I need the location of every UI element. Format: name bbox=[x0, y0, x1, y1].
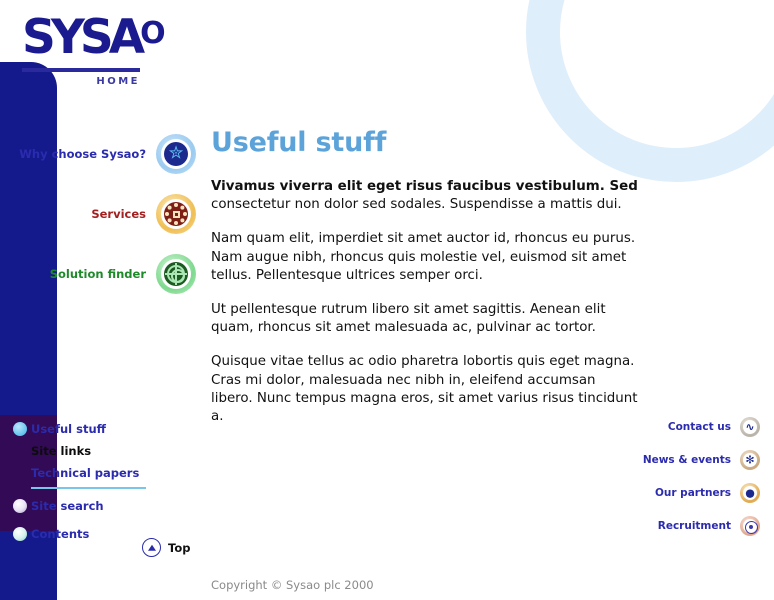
paragraph-1-lead-bold: Vivamus viverra elit eget risus faucibus… bbox=[211, 179, 638, 194]
sidebar-label-technical-papers: Technical papers bbox=[31, 466, 139, 480]
gear-core-icon bbox=[173, 211, 180, 218]
sidebar-item-technical-papers[interactable]: Technical papers bbox=[0, 462, 200, 484]
target-crosshair-vertical bbox=[175, 263, 177, 285]
main-content: Useful stuff Vivamus viverra elit eget r… bbox=[211, 128, 641, 442]
star-glyph-icon: ✮ bbox=[168, 145, 183, 163]
nav-item-services[interactable]: Services bbox=[0, 184, 196, 244]
nav-item-why-choose-sysao[interactable]: Why choose Sysao? ✮ bbox=[0, 124, 196, 184]
light-blue-bullet-icon bbox=[13, 422, 27, 436]
sidebar-item-site-search[interactable]: Site search bbox=[0, 495, 200, 517]
body-paragraph-2: Nam quam elit, imperdiet sit amet auctor… bbox=[211, 230, 641, 285]
spiral-glyph-icon bbox=[745, 521, 758, 534]
nav-item-contact-us[interactable]: Contact us ∿ bbox=[640, 415, 760, 439]
secondary-nav-left: Useful stuff Site links Technical papers… bbox=[0, 418, 200, 545]
target-orb-disc bbox=[164, 262, 188, 286]
sidebar-divider bbox=[31, 487, 146, 489]
logo-superscript: O bbox=[140, 16, 164, 51]
nav-item-recruitment[interactable]: Recruitment bbox=[640, 514, 760, 538]
secondary-nav-right: Contact us ∿ News & events ✻ Our partner… bbox=[640, 415, 760, 547]
nav-label-recruitment: Recruitment bbox=[658, 520, 731, 532]
primary-nav: Why choose Sysao? ✮ Services bbox=[0, 124, 196, 304]
sidebar-label-site-links: Site links bbox=[31, 444, 91, 458]
asterisk-glyph-icon: ✻ bbox=[745, 455, 754, 466]
droplet-orb-icon[interactable]: ● bbox=[740, 483, 760, 503]
wave-orb-icon[interactable]: ∿ bbox=[740, 417, 760, 437]
nav-item-news-events[interactable]: News & events ✻ bbox=[640, 448, 760, 472]
droplet-glyph-icon: ● bbox=[745, 488, 755, 499]
up-arrow-circle-icon bbox=[142, 538, 161, 557]
body-paragraph-4: Quisque vitae tellus ac odio pharetra lo… bbox=[211, 353, 641, 426]
nav-label-our-partners: Our partners bbox=[655, 487, 731, 499]
nav-label-solution-finder: Solution finder bbox=[50, 267, 146, 281]
nav-label-news-events: News & events bbox=[643, 454, 731, 466]
page-title: Useful stuff bbox=[211, 128, 641, 158]
target-orb-icon[interactable] bbox=[156, 254, 196, 294]
spiral-orb-icon[interactable] bbox=[740, 516, 760, 536]
sidebar-item-useful-stuff[interactable]: Useful stuff bbox=[0, 418, 200, 440]
sidebar-item-site-links[interactable]: Site links bbox=[0, 440, 200, 462]
paragraph-1-text: consectetur non dolor sed sodales. Suspe… bbox=[211, 197, 622, 212]
wave-glyph-icon: ∿ bbox=[745, 422, 754, 433]
sidebar-label-contents: Contents bbox=[31, 527, 89, 541]
lavender-bullet-icon bbox=[13, 499, 27, 513]
nav-label-why-choose-sysao: Why choose Sysao? bbox=[19, 147, 146, 161]
nav-label-contact-us: Contact us bbox=[668, 421, 731, 433]
sidebar-label-site-search: Site search bbox=[31, 499, 104, 513]
body-paragraph-3: Ut pellentesque rutrum libero sit amet s… bbox=[211, 301, 641, 337]
home-link[interactable]: HOME bbox=[22, 76, 140, 87]
nav-item-solution-finder[interactable]: Solution finder bbox=[0, 244, 196, 304]
gear-orb-disc bbox=[164, 202, 188, 226]
sidebar-label-useful-stuff: Useful stuff bbox=[31, 422, 106, 436]
nav-item-our-partners[interactable]: Our partners ● bbox=[640, 481, 760, 505]
body-paragraph-1: Vivamus viverra elit eget risus faucibus… bbox=[211, 178, 641, 214]
asterisk-orb-icon[interactable]: ✻ bbox=[740, 450, 760, 470]
teal-bullet-icon bbox=[13, 527, 27, 541]
logo-divider bbox=[22, 68, 140, 72]
back-to-top-link[interactable]: Top bbox=[142, 538, 190, 557]
copyright-text: Copyright © Sysao plc 2000 bbox=[211, 578, 374, 592]
star-orb-disc: ✮ bbox=[164, 142, 188, 166]
logo-text: SYSA bbox=[22, 10, 140, 65]
back-to-top-label: Top bbox=[168, 541, 190, 555]
star-orb-icon[interactable]: ✮ bbox=[156, 134, 196, 174]
gear-orb-icon[interactable] bbox=[156, 194, 196, 234]
nav-label-services: Services bbox=[91, 207, 146, 221]
logo-wordmark: SYSAO bbox=[22, 8, 162, 64]
site-logo[interactable]: SYSAO HOME bbox=[22, 8, 162, 87]
page-root: SYSAO HOME Why choose Sysao? ✮ Services bbox=[0, 0, 774, 600]
